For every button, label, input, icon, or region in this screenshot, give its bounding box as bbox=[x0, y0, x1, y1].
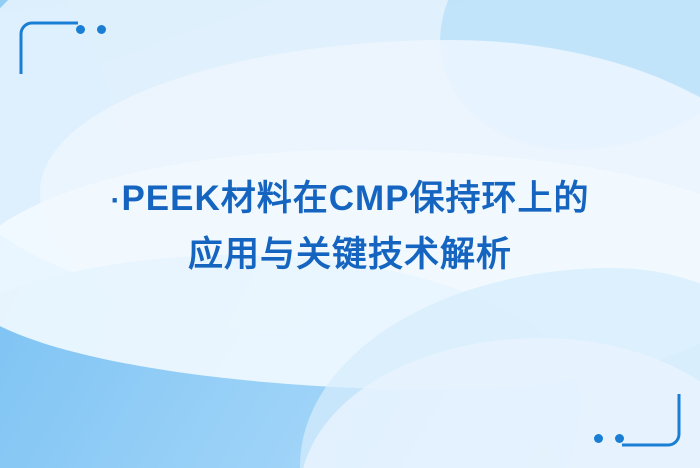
poster-canvas: ·PEEK材料在CMP保持环上的 应用与关键技术解析 bbox=[0, 0, 700, 468]
dot bbox=[615, 434, 624, 443]
dot bbox=[76, 25, 85, 34]
title-line-2-text: 应用与关键技术解析 bbox=[0, 228, 700, 282]
title-line-1-text: PEEK材料在CMP保持环上的 bbox=[121, 179, 589, 218]
decorative-dots-top-left bbox=[76, 25, 106, 34]
corner-bracket-top-left-icon bbox=[18, 20, 80, 76]
title-bullet-icon: · bbox=[110, 184, 121, 217]
poster-title: ·PEEK材料在CMP保持环上的 应用与关键技术解析 bbox=[0, 172, 700, 282]
decorative-dots-bottom-right bbox=[594, 434, 624, 443]
dot bbox=[97, 25, 106, 34]
title-line-1-row: ·PEEK材料在CMP保持环上的 bbox=[0, 172, 700, 228]
corner-bracket-bottom-right-icon bbox=[620, 392, 682, 448]
dot bbox=[594, 434, 603, 443]
